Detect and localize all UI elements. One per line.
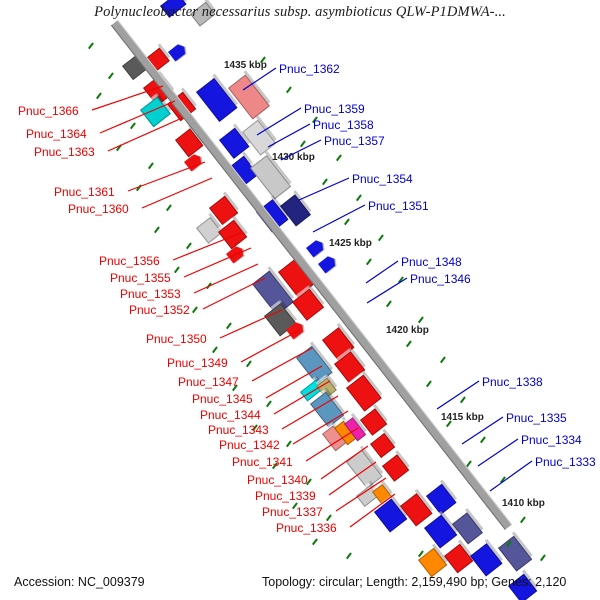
gene-label[interactable]: Pnuc_1364: [26, 127, 87, 141]
strand-tick-icon: [520, 516, 526, 523]
strand-tick-icon: [418, 316, 424, 323]
gene-label[interactable]: Pnuc_1349: [167, 356, 228, 370]
strand-tick-icon: [336, 154, 342, 161]
strand-tick-icon: [312, 538, 318, 545]
strand-tick-icon: [322, 178, 328, 185]
strand-tick-icon: [154, 226, 160, 233]
strand-tick-icon: [346, 552, 352, 559]
strand-tick-icon: [426, 380, 432, 387]
gene-label[interactable]: Pnuc_1356: [99, 254, 160, 268]
gene-label[interactable]: Pnuc_1366: [18, 104, 79, 118]
strand-tick-icon: [148, 162, 154, 169]
strand-tick-icon: [226, 322, 232, 329]
gene-label[interactable]: Pnuc_1346: [410, 272, 471, 286]
strand-tick-icon: [460, 396, 466, 403]
gene-glyph[interactable]: [242, 120, 276, 156]
strand-tick-icon: [108, 72, 114, 79]
gene-label[interactable]: Pnuc_1361: [54, 185, 115, 199]
gene-glyph[interactable]: [452, 512, 483, 544]
gene-glyph-face: [318, 254, 338, 273]
gene-label[interactable]: Pnuc_1359: [304, 102, 365, 116]
strand-tick-icon: [480, 436, 486, 443]
strand-tick-icon: [116, 144, 122, 151]
page-title: Polynucleobacter necessarius subsp. asym…: [0, 4, 600, 21]
gene-label[interactable]: Pnuc_1350: [146, 332, 207, 346]
strand-tick-icon: [206, 282, 212, 289]
gene-label[interactable]: Pnuc_1343: [208, 423, 269, 437]
gene-glyph[interactable]: [228, 74, 270, 119]
gene-label[interactable]: Pnuc_1345: [192, 392, 253, 406]
accession-text: Accession: NC_009379: [14, 575, 145, 589]
gene-glyph[interactable]: [306, 238, 326, 257]
gene-label[interactable]: Pnuc_1355: [110, 271, 171, 285]
gene-glyph-face: [168, 42, 188, 61]
ruler-tick-label: 1430 kbp: [272, 152, 315, 163]
strand-tick-icon: [212, 346, 218, 353]
strand-tick-icon: [398, 276, 404, 283]
strand-tick-icon: [130, 122, 136, 129]
genome-viewer-stage: 1435 kbp1430 kbp1425 kbp1420 kbp1415 kbp…: [0, 0, 600, 600]
gene-glyph[interactable]: [318, 254, 338, 273]
topology-text: Topology: circular; Length: 2,159,490 bp…: [262, 575, 566, 589]
strand-tick-icon: [136, 184, 142, 191]
strand-tick-icon: [246, 360, 252, 367]
strand-tick-icon: [166, 204, 172, 211]
strand-tick-icon: [186, 242, 192, 249]
gene-label[interactable]: Pnuc_1358: [313, 118, 374, 132]
gene-label[interactable]: Pnuc_1362: [279, 62, 340, 76]
strand-tick-icon: [378, 234, 384, 241]
gene-label[interactable]: Pnuc_1348: [401, 255, 462, 269]
gene-label[interactable]: Pnuc_1335: [506, 411, 567, 425]
gene-label[interactable]: Pnuc_1351: [368, 199, 429, 213]
strand-tick-icon: [266, 400, 272, 407]
gene-label[interactable]: Pnuc_1357: [324, 134, 385, 148]
gene-label[interactable]: Pnuc_1353: [120, 287, 181, 301]
strand-tick-icon: [300, 140, 306, 147]
status-bar: Accession: NC_009379 Topology: circular;…: [0, 566, 600, 600]
strand-tick-icon: [88, 42, 94, 49]
gene-label[interactable]: Pnuc_1363: [34, 145, 95, 159]
gene-label[interactable]: Pnuc_1337: [262, 505, 323, 519]
gene-label[interactable]: Pnuc_1342: [219, 438, 280, 452]
strand-tick-icon: [192, 306, 198, 313]
strand-tick-icon: [440, 356, 446, 363]
strand-tick-icon: [406, 340, 412, 347]
gene-label[interactable]: Pnuc_1340: [247, 473, 308, 487]
strand-tick-icon: [356, 194, 362, 201]
strand-tick-icon: [344, 218, 350, 225]
ruler-tick-label: 1415 kbp: [441, 412, 484, 423]
gene-label[interactable]: Pnuc_1344: [200, 408, 261, 422]
strand-tick-icon: [386, 300, 392, 307]
strand-tick-icon: [286, 86, 292, 93]
ruler-tick-label: 1410 kbp: [502, 498, 545, 509]
gene-label[interactable]: Pnuc_1360: [68, 202, 129, 216]
gene-label[interactable]: Pnuc_1354: [352, 172, 413, 186]
gene-label[interactable]: Pnuc_1336: [276, 521, 337, 535]
strand-tick-icon: [96, 92, 102, 99]
gene-label[interactable]: Pnuc_1352: [129, 303, 190, 317]
strand-tick-icon: [540, 554, 546, 561]
gene-label[interactable]: Pnuc_1333: [535, 455, 596, 469]
gene-glyph[interactable]: [140, 96, 171, 127]
gene-label[interactable]: Pnuc_1338: [482, 375, 543, 389]
strand-tick-icon: [500, 476, 506, 483]
strand-tick-icon: [174, 266, 180, 273]
ruler-tick-label: 1435 kbp: [224, 60, 267, 71]
gene-label[interactable]: Pnuc_1339: [255, 489, 316, 503]
gene-glyph-face: [306, 238, 326, 257]
ruler-tick-label: 1420 kbp: [386, 325, 429, 336]
gene-glyph[interactable]: [168, 42, 188, 61]
gene-label[interactable]: Pnuc_1347: [178, 375, 239, 389]
strand-tick-icon: [286, 440, 292, 447]
ruler-tick-label: 1425 kbp: [329, 238, 372, 249]
gene-label[interactable]: Pnuc_1334: [521, 433, 582, 447]
gene-glyph[interactable]: [382, 454, 409, 481]
gene-label[interactable]: Pnuc_1341: [232, 455, 293, 469]
gene-glyph[interactable]: [218, 220, 247, 250]
strand-tick-icon: [366, 258, 372, 265]
